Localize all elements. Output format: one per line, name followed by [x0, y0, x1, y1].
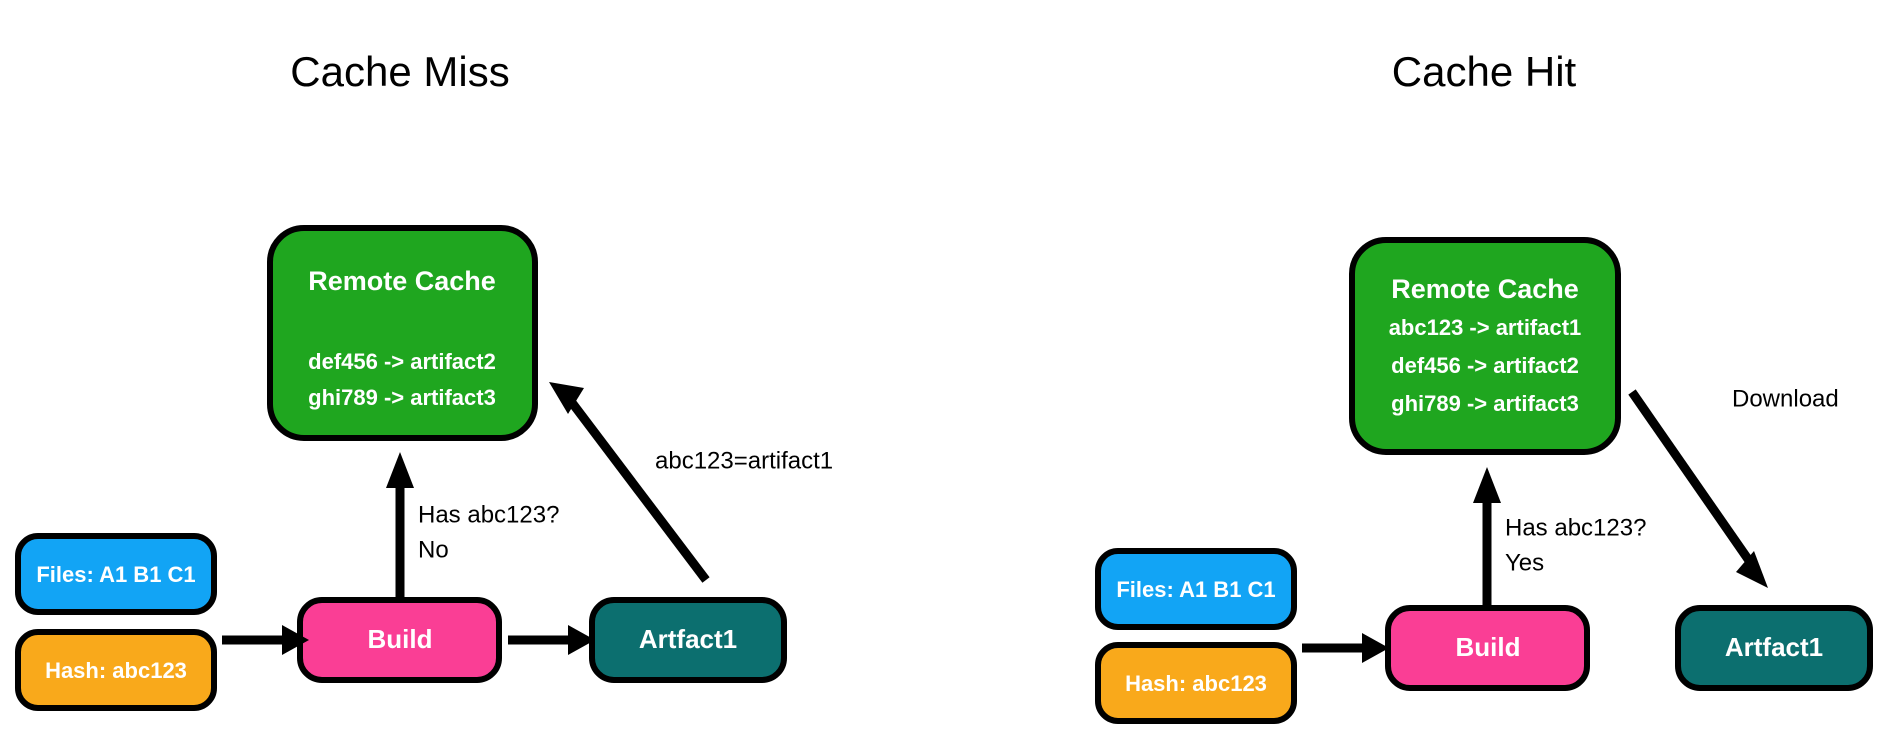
files-node-hit[interactable]: Files: A1 B1 C1	[1098, 551, 1294, 627]
remote-cache-entry-hit-2: ghi789 -> artifact3	[1391, 391, 1579, 416]
build-node-miss[interactable]: Build	[300, 600, 499, 680]
build-node-hit[interactable]: Build	[1388, 608, 1587, 688]
download-label-hit: Download	[1732, 385, 1839, 412]
query-label-miss-line1: Has abc123?	[418, 501, 559, 528]
remote-cache-node-miss[interactable]: Remote Cache def456 -> artifact2 ghi789 …	[270, 228, 535, 438]
hash-node-hit[interactable]: Hash: abc123	[1098, 645, 1294, 721]
upload-label-miss: abc123=artifact1	[655, 447, 833, 474]
hash-label-hit: Hash: abc123	[1125, 671, 1267, 696]
remote-cache-entry-hit-0: abc123 -> artifact1	[1389, 315, 1582, 340]
artifact-label-miss: Artfact1	[639, 624, 737, 654]
remote-cache-entry-hit-1: def456 -> artifact2	[1391, 353, 1579, 378]
hash-label-miss: Hash: abc123	[45, 658, 187, 683]
artifact-label-hit: Artfact1	[1725, 632, 1823, 662]
remote-cache-node-hit[interactable]: Remote Cache abc123 -> artifact1 def456 …	[1352, 240, 1618, 452]
query-label-hit-line1: Has abc123?	[1505, 514, 1646, 541]
artifact-node-miss[interactable]: Artfact1	[592, 600, 784, 680]
diagram-canvas: Cache Miss Remote Cache def456 -> artifa…	[0, 0, 1894, 746]
query-label-hit-line2: Yes	[1505, 549, 1544, 576]
build-label-hit: Build	[1456, 632, 1521, 662]
remote-cache-entry-miss-1: ghi789 -> artifact3	[308, 385, 496, 410]
files-node-miss[interactable]: Files: A1 B1 C1	[18, 536, 214, 612]
hash-node-miss[interactable]: Hash: abc123	[18, 632, 214, 708]
remote-cache-title-miss: Remote Cache	[308, 266, 496, 296]
query-label-miss-line2: No	[418, 536, 449, 563]
files-label-miss: Files: A1 B1 C1	[36, 562, 195, 587]
artifact-node-hit[interactable]: Artfact1	[1678, 608, 1870, 688]
files-label-hit: Files: A1 B1 C1	[1116, 577, 1275, 602]
remote-cache-box-hit[interactable]	[1352, 240, 1618, 452]
panel-title-cache-hit: Cache Hit	[1392, 48, 1577, 95]
remote-cache-title-hit: Remote Cache	[1391, 274, 1579, 304]
diagram-svg: Cache Miss Remote Cache def456 -> artifa…	[0, 0, 1894, 746]
remote-cache-entry-miss-0: def456 -> artifact2	[308, 349, 496, 374]
build-label-miss: Build	[368, 624, 433, 654]
panel-title-cache-miss: Cache Miss	[290, 48, 509, 95]
